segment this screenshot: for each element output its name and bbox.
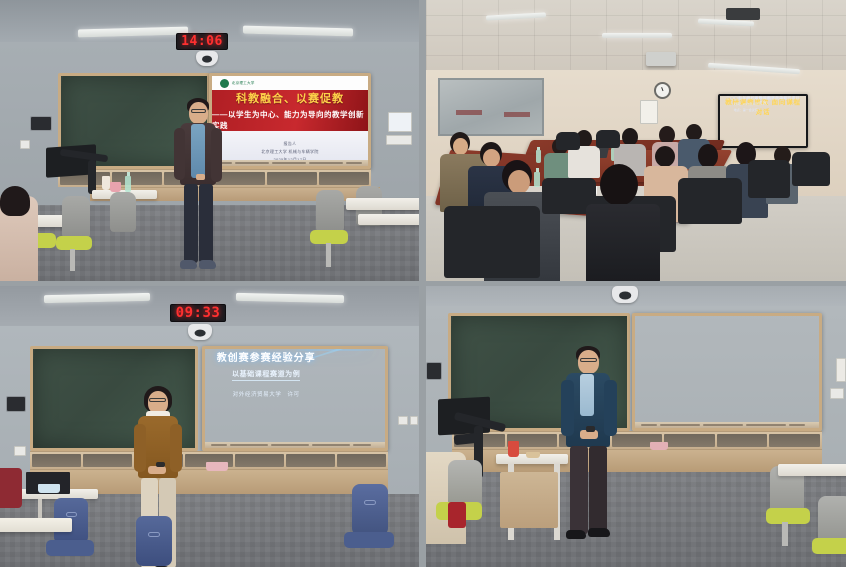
photo-bottom-right: ★ 学科铸魂 数智赋能 打造特色化课程思政教学范式 北京理工大学材料学院 庠煜 (419, 281, 846, 567)
student-table-right (346, 198, 419, 210)
presenter-shirt (580, 374, 594, 416)
presenter-leg-left (570, 446, 588, 534)
slide-tag-0: （赛道 本科组—基础课） (212, 346, 249, 349)
bezel-mark-5 (346, 162, 362, 164)
cabinet-cell (286, 454, 335, 467)
smart-board-bezel (212, 160, 368, 166)
meeting-detail-1: 时间：2025年12月 (734, 102, 790, 106)
meeting-detail-2: 地点：第一会议室 (734, 108, 790, 112)
wall-notice (388, 112, 412, 132)
presenter-arm-right (170, 424, 182, 472)
student-table-right-2 (358, 214, 419, 225)
slide-logo: 北京理工大学 (212, 76, 368, 90)
bezel-mark-3 (271, 444, 309, 446)
water-bottle (125, 176, 131, 192)
student-table (0, 518, 72, 532)
chair-handle-icon (66, 512, 77, 517)
smart-board: 教创赛参赛经验分享 以基础课程赛道为例 对外经济贸易大学 许可 （赛道 本科组—… (202, 346, 388, 451)
attendee-face (508, 170, 530, 194)
presenter-person (558, 346, 620, 536)
chair-handle-icon-2 (148, 532, 160, 537)
cabinet-cell (664, 434, 715, 447)
podium-cabinet (500, 472, 558, 528)
bezel-mark-5 (789, 424, 805, 426)
slide-top-left: 北京理工大学 科教融合、以赛促教 ——以学生为中心、能力为导向的教学创新实践 报… (212, 76, 368, 166)
blue-chair-seat-3 (344, 532, 394, 548)
bezel-mark-4 (312, 444, 350, 446)
wall-control-panel[interactable] (30, 116, 52, 131)
wall-switch-left[interactable] (20, 140, 30, 149)
slide-subtitle: 以基础课程赛道为例 (232, 369, 300, 381)
meeting-chair-3 (748, 160, 790, 198)
slide-text-block: 教创赛参赛经验分享 以基础课程赛道为例 对外经济贸易大学 许可 (216, 349, 317, 398)
wall-clock (654, 82, 671, 99)
presenter-glasses-icon (580, 358, 597, 362)
bezel-mark-3 (272, 162, 306, 164)
partition-text-right (504, 112, 530, 117)
photo-top-right: 教研课题思政 面向课程对话 二〇二五年度校级教育教学改革研究项目汇报 汇报人：刘… (419, 0, 846, 281)
digital-clock: 09:33 (170, 304, 226, 322)
presenter-shoe-right (588, 528, 610, 537)
cabinet-cell (717, 434, 768, 447)
presenter-person (168, 98, 228, 278)
wall-switch-right[interactable] (830, 388, 844, 399)
slide-title: 教创赛参赛经验分享 (217, 349, 316, 364)
slide-title-band: 科教融合、以赛促教 ——以学生为中心、能力为导向的教学创新实践 (212, 90, 368, 131)
presenter-line-0: 报告人 (284, 141, 297, 147)
slide-tag-2: （产教融合—基础课） (290, 346, 323, 349)
smart-board: 北京理工大学 科教融合、以赛促教 ——以学生为中心、能力为导向的教学创新实践 报… (209, 73, 371, 169)
presenter-shirt (191, 124, 205, 178)
digital-clock: 14:06 (176, 33, 228, 50)
bezel-mark-2 (660, 424, 700, 426)
presenter-hands (148, 466, 166, 474)
presenter-head (189, 102, 208, 124)
blue-chair-back-3 (352, 484, 388, 536)
foreground-attendee-hair (0, 186, 30, 216)
cabinet-cell (337, 454, 386, 467)
desk-cup (38, 484, 60, 493)
bezel-mark-2 (230, 444, 268, 446)
presenter-line-1: 北京理工大学 机械与车辆学院 (261, 149, 318, 155)
wall-control-panel[interactable] (426, 362, 442, 380)
student-chair-seat-3 (310, 230, 348, 244)
meeting-chair-2 (678, 178, 742, 224)
photo-top-right-frame: 教研课题思政 面向课程对话 二〇二五年度校级教育教学改革研究项目汇报 汇报人：刘… (426, 0, 846, 281)
wall-switch-c[interactable] (14, 446, 26, 456)
bezel-mark-1 (211, 444, 227, 446)
presenter-head (578, 350, 599, 374)
meeting-chair-7 (556, 132, 580, 150)
cabinet-cell (235, 454, 284, 467)
cabinet-cell (83, 454, 132, 467)
chair-post-1 (782, 522, 788, 546)
cabinet-cell (267, 172, 317, 185)
wall-strip (836, 358, 846, 382)
ceiling-camera (188, 324, 212, 340)
student-chair-back-2 (110, 192, 136, 232)
wall-switch-a[interactable] (398, 416, 408, 425)
cabinet-cell (769, 434, 820, 447)
wall-control-panel[interactable] (6, 396, 26, 412)
bezel-mark-3 (703, 424, 743, 426)
photo-bottom-left: 09:33 教创赛参赛经验分享 以基础课程赛道为例 对外经济贸易大学 许可 （赛… (0, 281, 419, 567)
slide-tag-3: （基础课 新进教师赛道） (324, 346, 361, 349)
presenter-clicker (586, 426, 595, 432)
presenter-arm-left (134, 424, 146, 472)
bezel-mark-2 (235, 162, 269, 164)
presenter-shoe-right (199, 260, 216, 269)
wall-switch-b[interactable] (410, 416, 418, 425)
presenter-shoe-left (180, 260, 197, 269)
red-bag (448, 502, 466, 528)
student-chair-seat-1 (56, 236, 92, 250)
meeting-chair-8 (596, 130, 620, 148)
student-chair-seat-2 (812, 538, 846, 554)
meeting-light-2 (602, 33, 672, 38)
bag-on-desk (0, 468, 22, 508)
meeting-slide-details: 汇报人：刘××（教务处 课程建设科 主任） 时间：2025年12月 地点：第一会… (734, 96, 790, 112)
attendee-hair (600, 164, 638, 206)
photo-bottom-left-frame: 09:33 教创赛参赛经验分享 以基础课程赛道为例 对外经济贸易大学 许可 （赛… (0, 286, 419, 567)
presenter-arm-left (174, 128, 185, 180)
meeting-ceiling (426, 0, 846, 76)
bezel-mark-4 (746, 424, 786, 426)
meeting-detail-0: 汇报人：刘××（教务处 课程建设科 主任） (734, 96, 790, 100)
chair-post-1 (70, 249, 75, 271)
chair-handle-icon-3 (364, 500, 376, 505)
student-chair-back-1 (62, 196, 90, 238)
bezel-mark-5 (353, 444, 371, 446)
presenter-arm-right (211, 128, 222, 182)
slide-logo-text: 北京理工大学 (232, 81, 255, 85)
smart-board: ★ 学科铸魂 数智赋能 打造特色化课程思政教学范式 北京理工大学材料学院 庠煜 (632, 313, 822, 431)
student-chair-back-3 (316, 190, 344, 232)
desk-item (526, 452, 540, 458)
slide-tags: （赛道 本科组—基础课） （课程思政组—基础课） （产教融合—基础课） （基础课… (212, 346, 327, 349)
presenter-leg-left (184, 184, 198, 263)
ceiling-camera (196, 51, 218, 66)
photo-bottom-right-frame: ★ 学科铸魂 数智赋能 打造特色化课程思政教学范式 北京理工大学材料学院 庠煜 (426, 286, 846, 567)
blue-chair-seat-1 (46, 540, 94, 556)
student-chair-seat-1 (766, 508, 810, 524)
photo-top-left-frame: 14:06 北京理工大学 科教融合、以赛促教 ——以学生为中心、能力为导向的教学… (0, 0, 419, 281)
presenter-clicker (156, 462, 165, 467)
smart-board-bezel (635, 422, 819, 428)
ceiling-vent (726, 8, 760, 20)
monitor-stand (88, 160, 96, 194)
cabinet-cell (319, 172, 369, 185)
presenter-arm-left (561, 380, 574, 436)
meeting-chair-5 (444, 206, 540, 278)
chair-post-3 (326, 243, 331, 267)
pink-tray (650, 442, 668, 450)
presenter-leg-right (199, 184, 213, 263)
presenter-leg-right (589, 446, 607, 534)
blue-chair-back-2 (136, 516, 172, 566)
slide-subtitle: ——以学生为中心、能力为导向的教学创新实践 (212, 109, 368, 131)
photo-top-left: 14:06 北京理工大学 科教融合、以赛促教 ——以学生为中心、能力为导向的教学… (0, 0, 419, 281)
coffee-cup (102, 176, 110, 190)
slide-title: 科教融合、以赛促教 (236, 90, 344, 106)
presenter-arm-right (604, 380, 617, 436)
partition-text-left (456, 110, 482, 115)
presenter-hand (196, 174, 205, 180)
attendee-face (453, 138, 468, 155)
wall-switch-right[interactable] (386, 135, 412, 145)
university-logo-icon (220, 79, 229, 88)
attendee-hair (698, 144, 718, 168)
student-table-right (778, 464, 846, 476)
slide-tag-4: （赛事讲 课程思政课） (364, 346, 388, 349)
photo-collage: 14:06 北京理工大学 科教融合、以赛促教 ——以学生为中心、能力为导向的教学… (0, 0, 846, 567)
attendee-foreground (584, 164, 666, 281)
meeting-display: 教研课题思政 面向课程对话 二〇二五年度校级教育教学改革研究项目汇报 汇报人：刘… (718, 94, 808, 148)
glass-partition (438, 78, 544, 136)
presenter-glasses-icon (149, 398, 166, 402)
presenter-shoe-left (566, 530, 586, 539)
meeting-chair-4 (792, 152, 830, 186)
smart-board-bezel (205, 442, 385, 448)
ceiling-camera (612, 286, 638, 303)
wall-poster (640, 100, 658, 124)
cabinet-cell (32, 454, 81, 467)
slide-byline: 对外经济贸易大学 许可 (233, 390, 300, 398)
foreground-chair-back (448, 460, 482, 508)
pink-tray (206, 462, 228, 471)
attendee-body (586, 204, 660, 281)
slide-tag-1: （课程思政组—基础课） (251, 346, 287, 349)
pink-box (110, 182, 121, 192)
ceiling-projector (646, 52, 676, 66)
bezel-mark-1 (641, 424, 657, 426)
bezel-mark-4 (309, 162, 343, 164)
student-chair-back-2 (818, 496, 846, 544)
presenter-glasses-icon (191, 109, 206, 113)
red-cup (508, 441, 519, 457)
